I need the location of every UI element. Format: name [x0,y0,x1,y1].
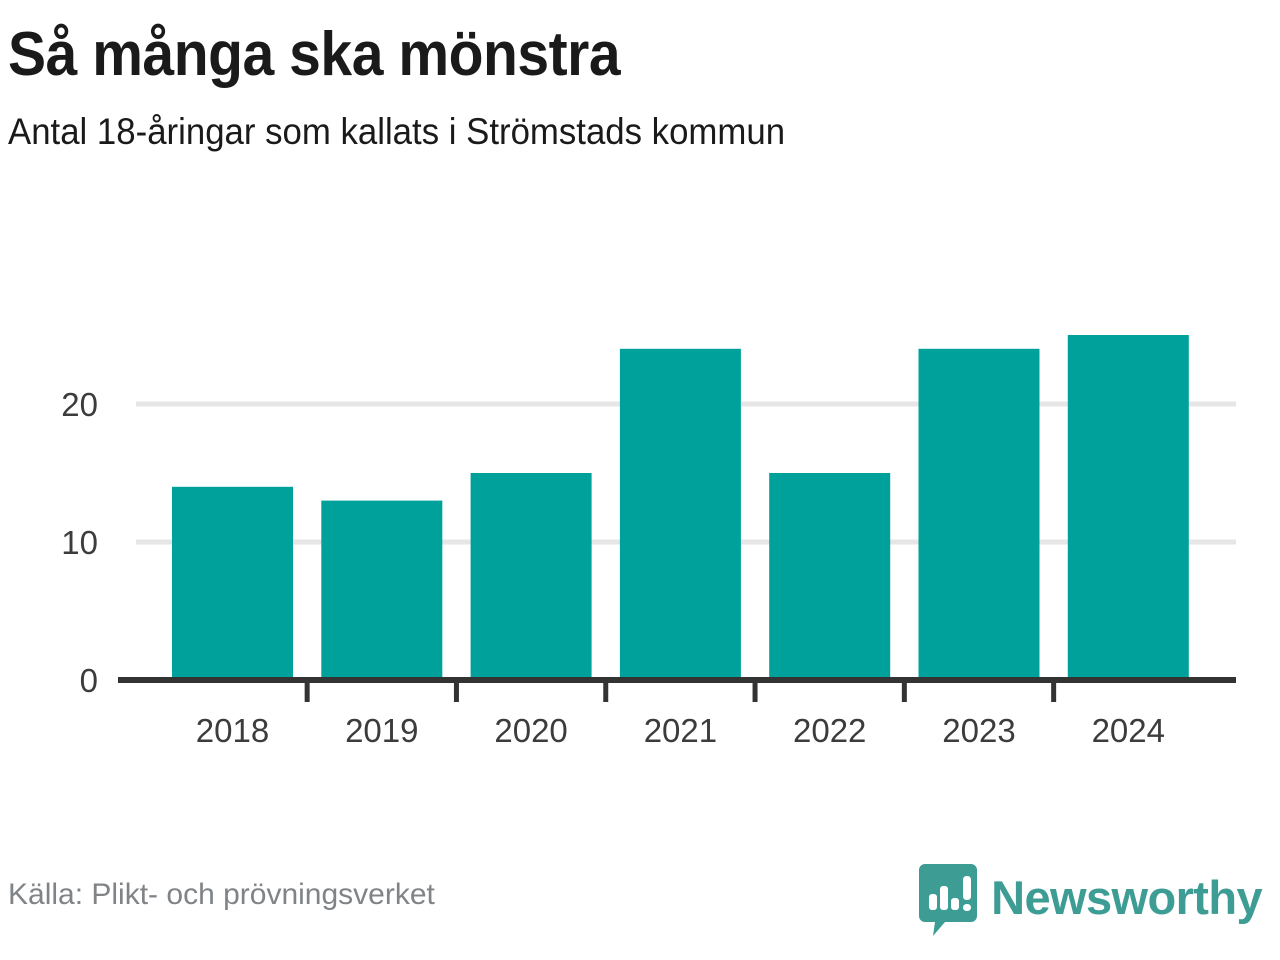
x-axis-label-2022: 2022 [793,712,866,749]
brand-wordmark: Newsworthy [991,874,1262,927]
source-note: Källa: Plikt- och prövningsverket [8,878,435,912]
x-axis-label-2020: 2020 [494,712,567,749]
chart-header: Så många ska mönstra Antal 18-åringar so… [8,22,1268,154]
chart-page: Så många ska mönstra Antal 18-åringar so… [0,0,1280,960]
bar-2023 [919,349,1040,680]
y-axis-label-10: 10 [61,524,98,561]
chart-footer: Källa: Plikt- och prövningsverket Newswo… [0,862,1280,942]
bar-2018 [172,487,293,680]
axis-group [118,680,1236,702]
bar-2019 [321,501,442,680]
page-title: Så många ska mönstra [8,22,1167,87]
y-tick-labels-group: 01020 [61,386,98,699]
x-axis-label-2024: 2024 [1092,712,1165,749]
chart-plot-area: 01020 2018201920202021202220232024 [0,262,1280,762]
x-tick-labels-group: 2018201920202021202220232024 [196,712,1165,749]
x-axis-label-2021: 2021 [644,712,717,749]
bar-2020 [471,473,592,680]
x-axis-label-2018: 2018 [196,712,269,749]
x-axis-label-2023: 2023 [942,712,1015,749]
speech-bubble-bar-chart-icon [919,864,977,936]
newsworthy-logo[interactable]: Newsworthy [919,864,1262,936]
bar-2024 [1068,335,1189,680]
bars-group [172,335,1189,680]
bar-2021 [620,349,741,680]
x-axis-label-2019: 2019 [345,712,418,749]
chart-subtitle: Antal 18-åringar som kallats i Strömstad… [8,87,1192,154]
bar-2022 [769,473,890,680]
bar-chart-svg: 01020 2018201920202021202220232024 [0,262,1280,762]
y-axis-label-0: 0 [80,662,98,699]
y-axis-label-20: 20 [61,386,98,423]
